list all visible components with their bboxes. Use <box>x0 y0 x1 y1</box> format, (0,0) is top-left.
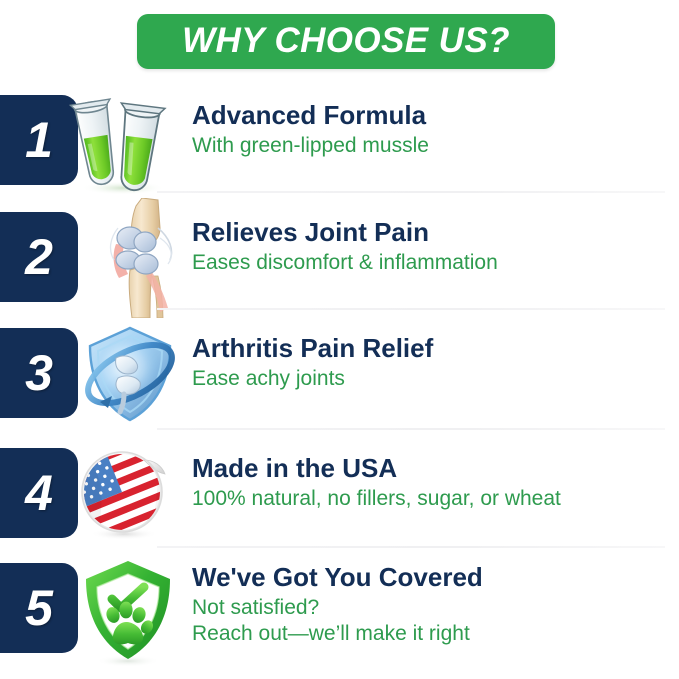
number-badge-3: 3 <box>0 328 78 418</box>
benefit-row-3: 3 <box>0 328 679 423</box>
page-title: WHY CHOOSE US? <box>137 14 555 69</box>
beakers-icon <box>55 90 180 195</box>
usa-flag-sticker-icon <box>70 444 175 544</box>
row-divider-2 <box>157 308 665 310</box>
benefit-row-4: 4 <box>0 448 679 543</box>
header-banner: WHY CHOOSE US? <box>137 14 555 69</box>
benefit-subtitle: Ease achy joints <box>192 366 433 392</box>
row-divider-4 <box>157 546 665 548</box>
badge-number-label: 2 <box>0 212 78 302</box>
benefit-text-3: Arthritis Pain Relief Ease achy joints <box>192 334 433 392</box>
benefit-title: Advanced Formula <box>192 101 429 130</box>
paw-shield-icon <box>76 555 181 670</box>
benefit-subtitle-line-1: Not satisfied? <box>192 595 483 621</box>
benefit-subtitle: 100% natural, no fillers, sugar, or whea… <box>192 486 561 512</box>
benefit-row-1: 1 <box>0 95 679 190</box>
benefit-subtitle-line-2: Reach out—we’ll make it right <box>192 621 483 647</box>
benefit-row-5: 5 <box>0 563 679 668</box>
benefit-subtitle: Eases discomfort & inflammation <box>192 250 498 276</box>
benefit-title: Relieves Joint Pain <box>192 218 498 247</box>
badge-number-label: 3 <box>0 328 78 418</box>
benefit-text-4: Made in the USA 100% natural, no fillers… <box>192 454 561 512</box>
knee-joint-icon <box>88 198 193 318</box>
infographic-page: WHY CHOOSE US? 1 <box>0 0 679 679</box>
benefit-title: We've Got You Covered <box>192 563 483 592</box>
benefit-title: Arthritis Pain Relief <box>192 334 433 363</box>
number-badge-2: 2 <box>0 212 78 302</box>
badge-number-label: 5 <box>0 563 78 653</box>
number-badge-4: 4 <box>0 448 78 538</box>
number-badge-5: 5 <box>0 563 78 653</box>
benefit-title: Made in the USA <box>192 454 561 483</box>
benefit-text-2: Relieves Joint Pain Eases discomfort & i… <box>192 218 498 276</box>
row-divider-1 <box>157 191 665 193</box>
row-divider-3 <box>157 428 665 430</box>
benefit-subtitle: With green-lipped mussle <box>192 133 429 159</box>
benefit-text-1: Advanced Formula With green-lipped mussl… <box>192 101 429 159</box>
benefit-text-5: We've Got You Covered Not satisfied? Rea… <box>192 563 483 646</box>
benefit-row-2: 2 <box>0 212 679 307</box>
protected-joint-icon <box>70 314 190 434</box>
badge-number-label: 4 <box>0 448 78 538</box>
